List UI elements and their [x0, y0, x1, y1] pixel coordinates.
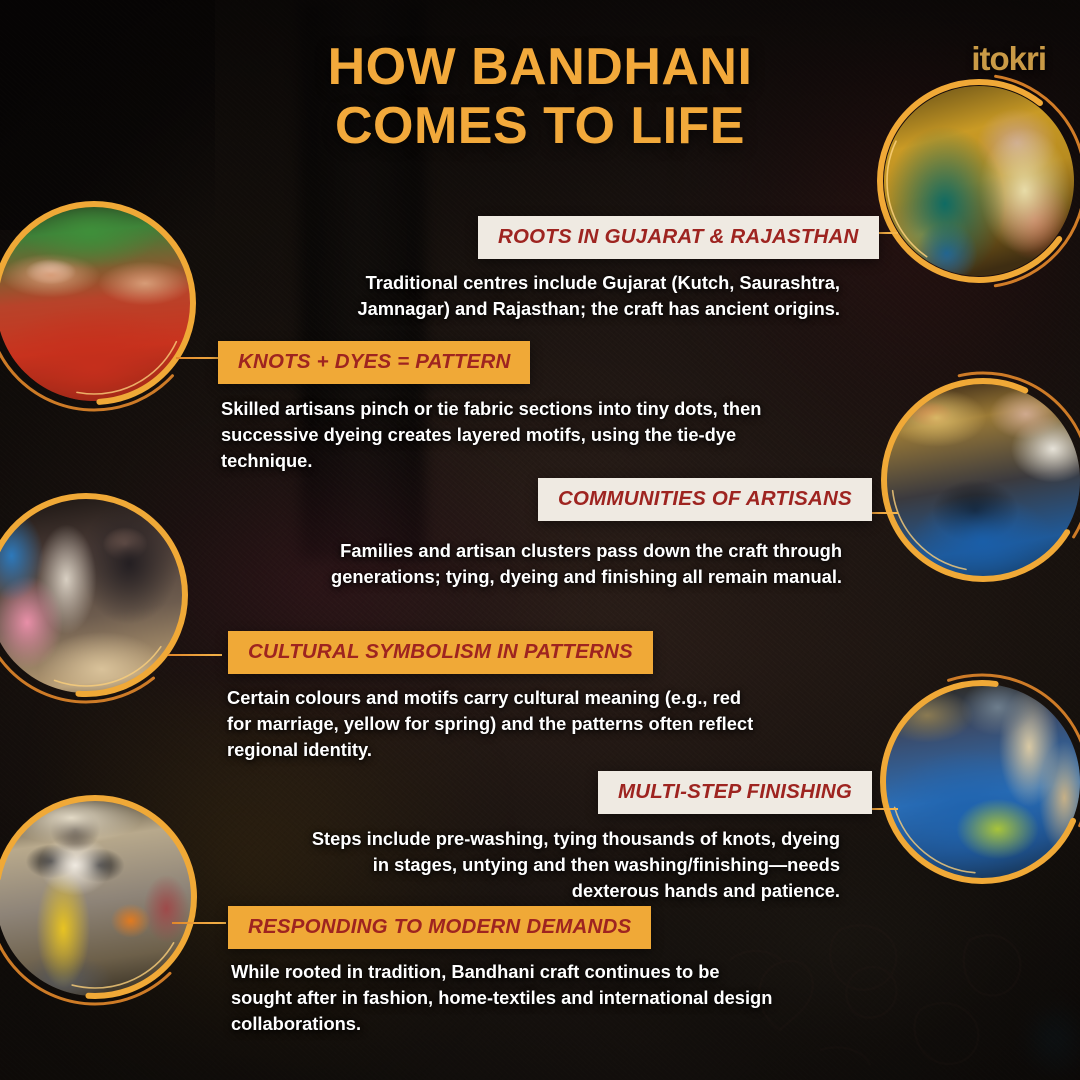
photo-women-tying-bandhani	[884, 86, 1074, 276]
section-label-text: CULTURAL SYMBOLISM IN PATTERNS	[248, 640, 633, 664]
section-label-text: COMMUNITIES OF ARTISANS	[558, 487, 852, 511]
section-label-text: RESPONDING TO MODERN DEMANDS	[248, 915, 631, 939]
infographic-poster: HOW BANDHANI COMES TO LIFE itokri	[0, 0, 1080, 1080]
photo-lifting-yellow-fabric	[0, 798, 194, 996]
section-body-multi-step-finishing: Steps include pre-washing, tying thousan…	[300, 826, 840, 904]
section-label-text: ROOTS IN GUJARAT & RAJASTHAN	[498, 225, 859, 249]
connector-line-4	[168, 654, 222, 656]
section-label-communities-of-artisans[interactable]: COMMUNITIES OF ARTISANS	[538, 478, 872, 521]
section-label-knots-dyes-pattern[interactable]: KNOTS + DYES = PATTERN	[218, 341, 530, 384]
photo-women-untying-cloth	[0, 497, 184, 693]
photo-hands-tying-red-fabric	[0, 205, 192, 401]
photo-indigo-vat-dipping	[884, 684, 1080, 880]
section-body-roots-in-gujarat-rajasthan: Traditional centres include Gujarat (Kut…	[270, 270, 840, 322]
connector-line-6	[172, 922, 226, 924]
section-label-text: KNOTS + DYES = PATTERN	[238, 350, 510, 374]
section-label-cultural-symbolism-in-patterns[interactable]: CULTURAL SYMBOLISM IN PATTERNS	[228, 631, 653, 674]
section-label-multi-step-finishing[interactable]: MULTI-STEP FINISHING	[598, 771, 872, 814]
itokri-logo[interactable]: itokri	[971, 40, 1046, 78]
section-body-communities-of-artisans: Families and artisan clusters pass down …	[240, 538, 842, 590]
section-label-responding-to-modern-demands[interactable]: RESPONDING TO MODERN DEMANDS	[228, 906, 651, 949]
section-body-responding-to-modern-demands: While rooted in tradition, Bandhani craf…	[231, 959, 779, 1037]
section-label-text: MULTI-STEP FINISHING	[618, 780, 852, 804]
section-body-cultural-symbolism-in-patterns: Certain colours and motifs carry cultura…	[227, 685, 765, 763]
photo-dyer-blue-vat	[886, 383, 1080, 577]
section-body-knots-dyes-pattern: Skilled artisans pinch or tie fabric sec…	[221, 396, 766, 474]
section-label-roots-in-gujarat-rajasthan[interactable]: ROOTS IN GUJARAT & RAJASTHAN	[478, 216, 879, 259]
